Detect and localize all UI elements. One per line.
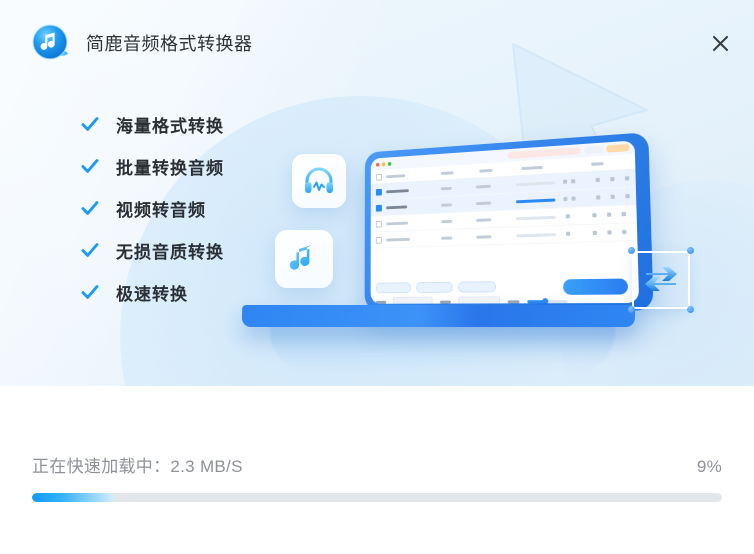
preview-cell-duration xyxy=(476,218,491,222)
feature-label: 极速转换 xyxy=(116,280,188,305)
preview-row-checkbox xyxy=(376,204,382,211)
convert-corner-dot xyxy=(687,247,694,254)
preview-action-icon xyxy=(622,212,626,216)
preview-form-label xyxy=(376,300,386,303)
convert-frame xyxy=(632,251,690,309)
status-line: 正在快速加载中：2.3 MB/S 9% xyxy=(32,452,722,477)
preview-action-icon xyxy=(563,180,567,184)
preview-cell-name xyxy=(386,221,408,225)
preview-cell-name xyxy=(386,237,410,241)
preview-max-dot xyxy=(388,161,391,165)
hero-illustration xyxy=(240,120,710,370)
convert-corner-dot xyxy=(628,247,635,254)
laptop-base xyxy=(242,305,635,327)
check-icon xyxy=(80,198,100,218)
headphone-card xyxy=(292,154,346,208)
music-note-card xyxy=(275,230,333,288)
music-note-circle-icon xyxy=(30,22,72,64)
convert-badge xyxy=(632,251,690,309)
feature-label: 海量格式转换 xyxy=(116,112,224,137)
preview-button-a xyxy=(585,146,604,154)
preview-action-icon xyxy=(610,177,614,181)
preview-form-slider xyxy=(527,300,567,303)
preview-cell-size xyxy=(441,236,452,239)
preview-action-icon xyxy=(607,213,611,217)
preview-button-b xyxy=(606,144,629,153)
download-status-text: 正在快速加载中：2.3 MB/S xyxy=(32,452,243,477)
preview-action-icon xyxy=(566,232,570,236)
preview-cell-progress xyxy=(516,215,556,220)
preview-cell-duration xyxy=(476,184,491,188)
preview-action-icon xyxy=(592,213,596,217)
preview-col-actions xyxy=(591,162,603,166)
preview-col-size xyxy=(441,171,454,175)
music-note-icon xyxy=(287,242,321,276)
installer-window: 简鹿音频格式转换器 海量格式转换 批量转换音频 xyxy=(0,0,754,554)
check-icon xyxy=(80,114,100,134)
preview-action-icon xyxy=(571,179,575,183)
preview-col-name xyxy=(386,174,405,178)
feature-item: 无损音质转换 xyxy=(80,239,224,261)
preview-form-select xyxy=(393,297,432,304)
feature-label: 视频转音频 xyxy=(116,196,206,221)
app-logo xyxy=(30,22,72,64)
feature-item: 视频转音频 xyxy=(80,197,224,219)
preview-form-label xyxy=(440,300,451,303)
feature-item: 批量转换音频 xyxy=(80,155,224,177)
feature-list: 海量格式转换 批量转换音频 视频转音频 无损音质转换 xyxy=(80,113,224,303)
preview-toolbar-chip xyxy=(458,281,496,292)
title-row: 简鹿音频格式转换器 xyxy=(30,22,253,64)
preview-cell-size xyxy=(441,186,452,189)
preview-action-icon xyxy=(563,197,567,201)
feature-label: 批量转换音频 xyxy=(116,154,224,179)
preview-header-checkbox xyxy=(376,173,382,180)
preview-cell-duration xyxy=(476,201,491,205)
preview-action-icon xyxy=(593,231,597,235)
preview-toolbar-chip xyxy=(376,282,411,293)
preview-row-checkbox xyxy=(376,188,382,195)
preview-toolbar-chip xyxy=(416,282,452,293)
progress-percent-label: 9% xyxy=(697,457,722,477)
laptop-screen xyxy=(371,140,640,303)
preview-cell-name xyxy=(386,189,409,193)
preview-action-icon xyxy=(596,195,600,199)
headphone-waveform-icon xyxy=(302,164,336,198)
progress-bar-fill xyxy=(32,493,115,502)
laptop-app-preview xyxy=(365,132,654,310)
preview-action-icon xyxy=(596,178,600,182)
preview-row-checkbox xyxy=(376,220,382,227)
progress-bar xyxy=(32,493,722,502)
feature-item: 极速转换 xyxy=(80,281,224,303)
check-icon xyxy=(80,156,100,176)
feature-item: 海量格式转换 xyxy=(80,113,224,135)
preview-action-icon xyxy=(571,196,575,200)
preview-form-label xyxy=(508,300,520,303)
preview-cell-name xyxy=(386,205,407,209)
check-icon xyxy=(80,282,100,302)
preview-col-duration xyxy=(479,168,492,172)
preview-action-icon xyxy=(625,176,629,180)
feature-label: 无损音质转换 xyxy=(116,238,224,263)
preview-close-dot xyxy=(376,162,379,166)
preview-cell-progress xyxy=(516,181,555,186)
preview-action-icon xyxy=(625,194,629,198)
close-icon xyxy=(712,35,729,52)
preview-convert-button xyxy=(563,278,628,294)
preview-action-icon xyxy=(566,214,570,218)
preview-col-progress xyxy=(521,165,543,169)
preview-cell-size xyxy=(441,219,452,222)
preview-action-icon xyxy=(607,230,611,234)
preview-action-icon xyxy=(611,195,615,199)
preview-min-dot xyxy=(382,162,385,166)
preview-cell-progress xyxy=(516,233,556,237)
progress-area: 正在快速加载中：2.3 MB/S 9% xyxy=(0,386,754,554)
page-title: 简鹿音频格式转换器 xyxy=(86,30,253,56)
preview-cell-duration xyxy=(476,235,491,238)
preview-notice-pill xyxy=(508,147,581,159)
preview-cell-progress xyxy=(516,198,555,203)
preview-form-select xyxy=(458,296,500,303)
laptop-reflection xyxy=(270,326,615,372)
hero-banner: 简鹿音频格式转换器 海量格式转换 批量转换音频 xyxy=(0,0,754,386)
convert-corner-dot xyxy=(687,306,694,313)
preview-form-row xyxy=(376,296,633,304)
preview-cell-size xyxy=(441,203,452,206)
convert-corner-dot xyxy=(628,306,635,313)
preview-row-checkbox xyxy=(376,236,382,243)
preview-action-icon xyxy=(622,230,626,234)
close-button[interactable] xyxy=(704,27,736,59)
check-icon xyxy=(80,240,100,260)
preview-settings-form xyxy=(371,293,640,303)
